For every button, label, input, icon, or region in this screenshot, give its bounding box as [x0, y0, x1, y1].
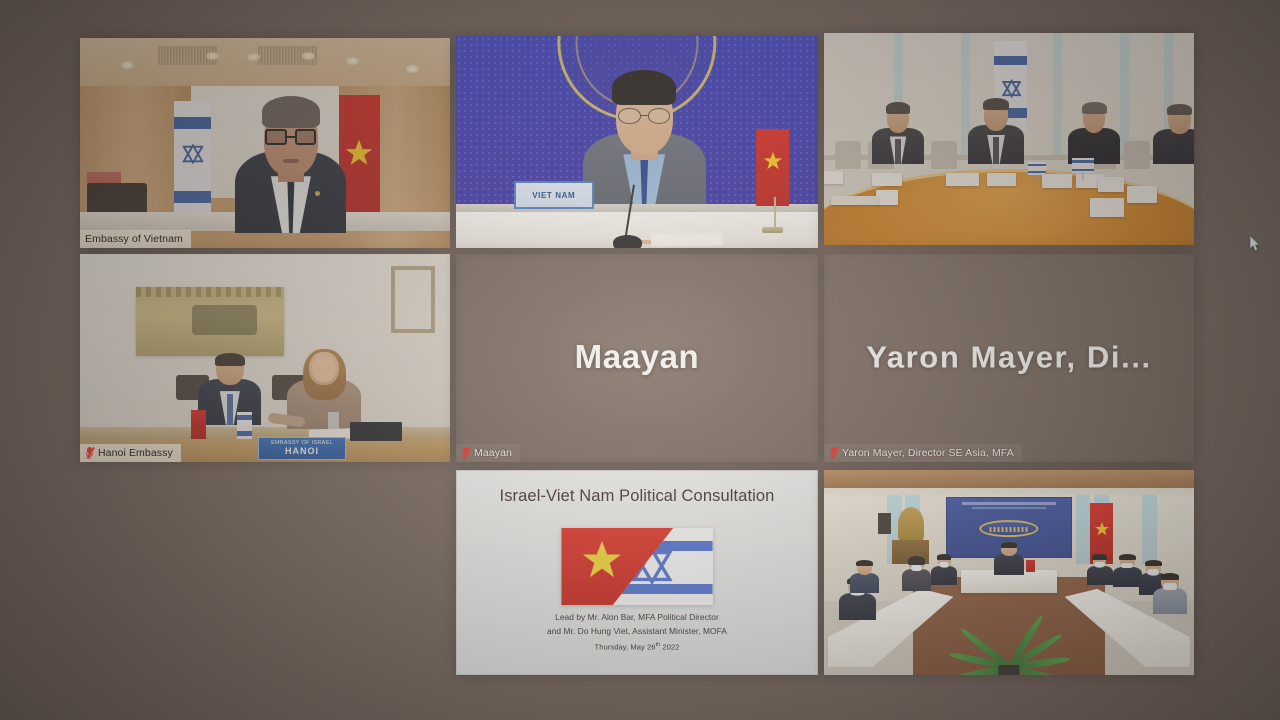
slide-title: Israel-Viet Nam Political Consultation [471, 487, 802, 506]
participant-name-text: Embassy of Vietnam [85, 232, 183, 246]
yellow-star-icon [578, 537, 626, 583]
tile-scene: EMBASSY OF ISRAEL HANOI [80, 254, 450, 462]
participant-name-label: Maayan [456, 444, 520, 462]
slide-date: Thursday, May 26th 2022 [475, 642, 799, 652]
slide-canvas: Israel-Viet Nam Political Consultation [456, 470, 818, 675]
participant-name-text: Yaron Mayer, Director SE Asia, MFA [842, 446, 1014, 460]
video-tile-mofa-hanoi-room[interactable] [824, 470, 1194, 675]
mic-muted-icon [829, 447, 838, 460]
desk-nameplate: VIET NAM [514, 181, 594, 209]
yellow-star-icon [1093, 520, 1111, 537]
participant-name-label: Hanoi Embassy [80, 444, 181, 462]
participant-name-text: Hanoi Embassy [98, 446, 173, 460]
yellow-star-icon [761, 150, 785, 172]
video-tile-yaron-mayer[interactable]: Yaron Mayer, Di... Yaron Mayer, Director… [824, 254, 1194, 462]
yellow-star-icon [342, 137, 376, 169]
mouse-cursor-icon [1249, 236, 1260, 252]
israel-desk-flag [237, 412, 252, 439]
participant-name-text: Maayan [474, 446, 512, 460]
tile-scene [824, 470, 1194, 675]
vietnam-desk-flag [191, 410, 206, 439]
potted-palm [942, 593, 1075, 675]
vietnam-flag [756, 129, 789, 205]
slide-subtitle-line-1: Lead by Mr. Alon Bar, MFA Political Dire… [475, 612, 799, 622]
video-tile-maayan[interactable]: Maayan Maayan [456, 254, 818, 462]
participant-figure [968, 97, 1024, 165]
slide-date-suffix: 2022 [660, 642, 679, 651]
nameplate-line-2: HANOI [285, 447, 319, 456]
wall-artwork [136, 287, 284, 356]
video-tile-hanoi-embassy[interactable]: EMBASSY OF ISRAEL HANOI Hanoi Embassy [80, 254, 450, 462]
participant-big-name: Yaron Mayer, Di... [824, 339, 1194, 375]
participant-figure [583, 66, 706, 219]
participant-figure [931, 554, 957, 585]
desk-nameplate: EMBASSY OF ISRAEL HANOI [258, 437, 347, 460]
participant-figure [1153, 573, 1186, 614]
participant-figure [902, 556, 932, 591]
star-of-david-icon [182, 137, 203, 172]
israel-flag [174, 101, 211, 217]
tile-scene: VIET NAM [456, 36, 818, 248]
participant-figure [1087, 554, 1113, 585]
participant-name-label: Embassy of Vietnam [80, 230, 191, 248]
nameplate-text: VIET NAM [532, 191, 575, 200]
video-tile-embassy-of-vietnam[interactable]: Embassy of Vietnam [80, 38, 450, 248]
vietnam-desk-flag [1026, 560, 1035, 572]
ho-chi-minh-bust [898, 507, 924, 542]
slide-subtitle-line-2: and Mr. Do Hung Viet, Assistant Minister… [475, 626, 799, 636]
tile-scene [824, 33, 1194, 245]
shared-screen-title-slide[interactable]: Israel-Viet Nam Political Consultation [456, 470, 818, 675]
participant-figure [994, 542, 1024, 575]
participant-figure [872, 101, 924, 165]
participant-figure [235, 91, 346, 234]
israel-desk-flag [1072, 158, 1094, 173]
combined-flags-graphic [561, 528, 712, 605]
projected-wall: Embassy of Vietnam [0, 0, 1280, 720]
slide-date-prefix: Thursday, May 26 [595, 642, 656, 651]
video-tile-israel-mfa-room[interactable] [824, 33, 1194, 245]
participant-figure [1153, 103, 1194, 164]
participant-figure [287, 346, 361, 429]
israel-desk-flag [1028, 162, 1047, 175]
mic-muted-icon [461, 447, 470, 460]
video-tile-viet-nam[interactable]: VIET NAM [456, 36, 818, 248]
tile-scene [80, 38, 450, 248]
mic-muted-icon [85, 447, 94, 460]
participant-name-label: Yaron Mayer, Director SE Asia, MFA [824, 444, 1022, 462]
participant-figure [1068, 101, 1120, 165]
mofa-emblem-icon [979, 520, 1038, 538]
participant-figure [850, 560, 880, 593]
participant-big-name: Maayan [456, 338, 818, 376]
